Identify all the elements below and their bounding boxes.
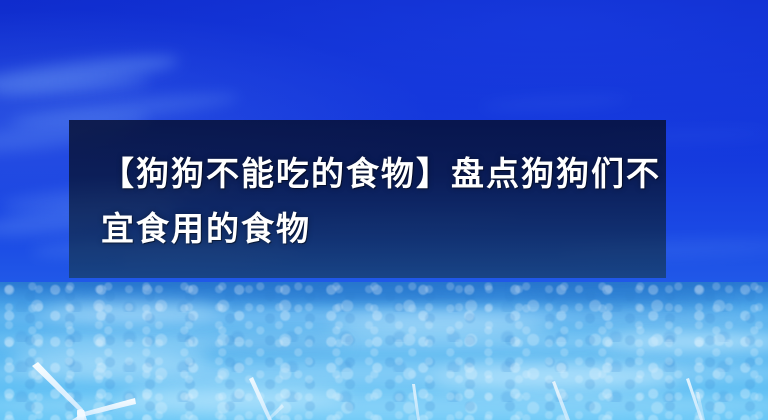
overlay-title-text: 【狗狗不能吃的食物】盘点狗狗们不宜食用的食物 (101, 146, 661, 256)
turbine-3 (412, 384, 420, 420)
turbine-5 (686, 378, 705, 420)
turbine-2 (249, 377, 284, 420)
turbine-1 (32, 362, 136, 420)
screenshot-canvas: 【狗狗不能吃的食物】盘点狗狗们不宜食用的食物 (0, 0, 768, 420)
turbine-4 (552, 381, 570, 420)
